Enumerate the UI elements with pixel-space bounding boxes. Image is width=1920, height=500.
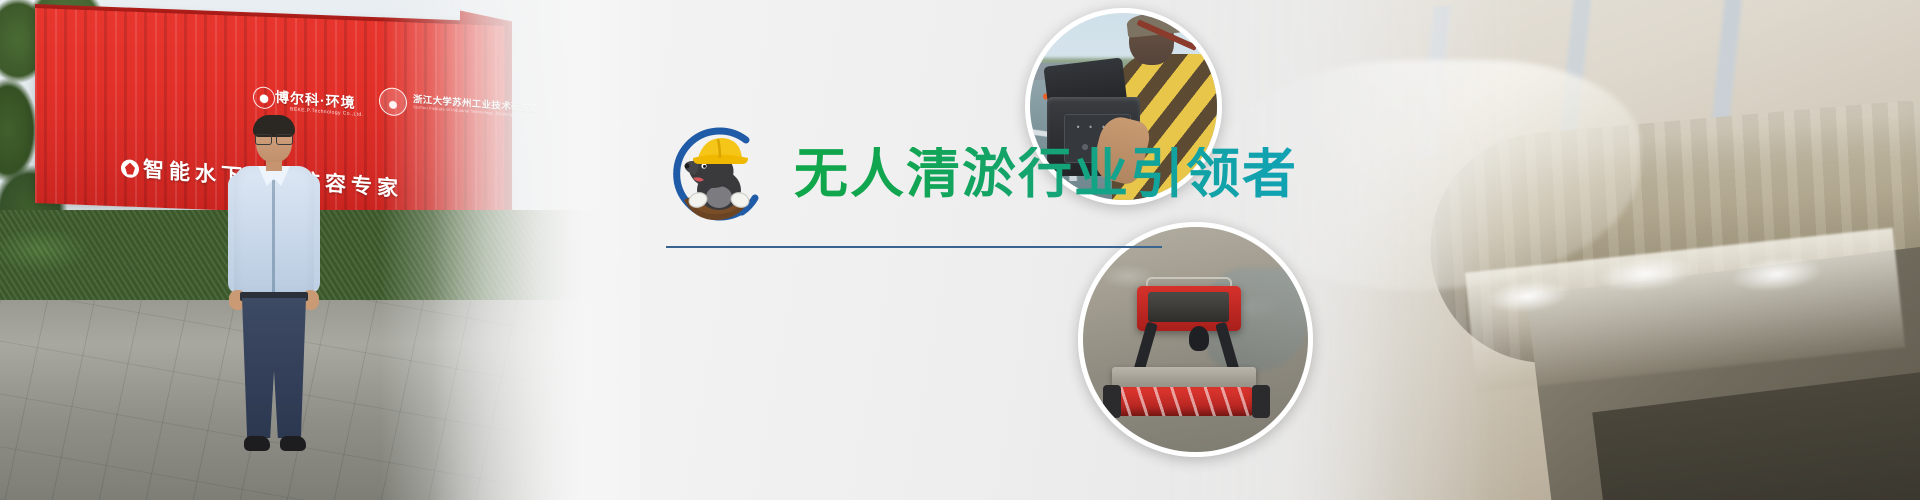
headline-text: 无人清淤行业引领者 [794,147,1298,201]
logo-mole-pupil [703,165,706,168]
left-photo-fade [380,0,640,500]
trousers [242,298,306,438]
engineer-figure [228,118,320,458]
center-lockup: MUD MOLE 无人清淤行业引领者 [660,0,1220,500]
headline-divider [666,246,1162,248]
auger-end-cap-right [1252,385,1270,419]
logo-and-headline-row: MUD MOLE 无人清淤行业引领者 [660,118,1298,230]
shoes [244,436,306,452]
logo-mole-nose [685,164,690,169]
mud-mole-logo-icon: MUD MOLE [660,118,772,230]
logo-mole-belly [706,186,732,208]
hero-banner: 博尔科·环境 BEKE.P.Technology Co.,Ltd. 浙江大学苏州… [0,0,1920,500]
mud-mole-logo: MUD MOLE [660,118,772,230]
shirt-placket [272,180,275,292]
glasses-icon [255,134,293,143]
company-mark-icon [253,86,275,110]
slogan-badge-icon [121,159,139,178]
